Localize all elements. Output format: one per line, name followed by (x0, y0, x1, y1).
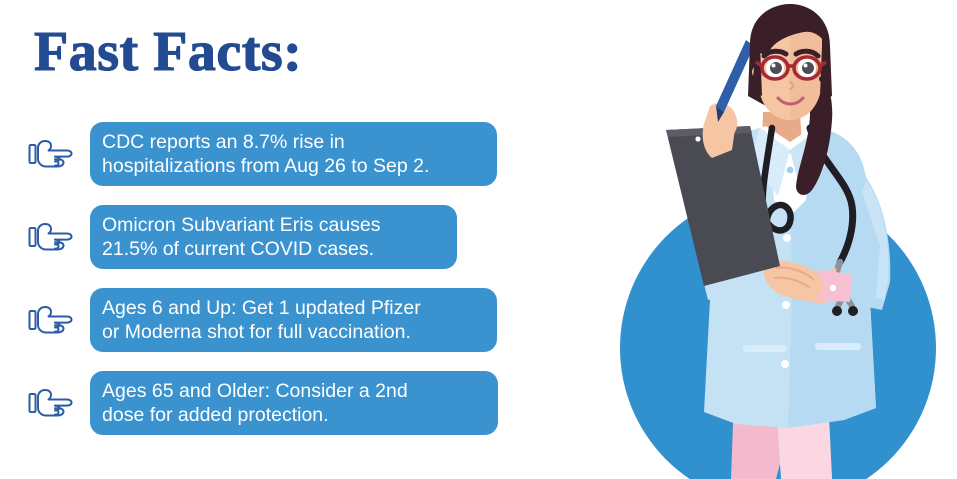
fact-text: CDC reports an 8.7% rise in hospitalizat… (102, 130, 429, 178)
pointing-hand-icon (28, 137, 74, 171)
coat-button-2 (782, 301, 790, 309)
coat-pocket-right (815, 343, 861, 350)
fact-row: CDC reports an 8.7% rise in hospitalizat… (0, 122, 560, 186)
pupil-right (802, 62, 814, 74)
fact-text: Ages 6 and Up: Get 1 updated Pfizer or M… (102, 296, 421, 344)
clipboard-clip-dot-left (695, 136, 700, 141)
eye-highlight-right (804, 64, 808, 68)
fast-facts-list: CDC reports an 8.7% rise in hospitalizat… (0, 122, 560, 454)
coat-button-3 (781, 360, 789, 368)
pointing-hand-icon (28, 220, 74, 254)
coat-pocket-left (743, 345, 787, 352)
eye-highlight-left (772, 64, 776, 68)
fact-text: Ages 65 and Older: Consider a 2nd dose f… (102, 379, 408, 427)
fact-bubble: Ages 65 and Older: Consider a 2nd dose f… (90, 371, 498, 435)
fact-bubble: CDC reports an 8.7% rise in hospitalizat… (90, 122, 497, 186)
fact-row: Ages 6 and Up: Get 1 updated Pfizer or M… (0, 288, 560, 352)
infographic-canvas: Fast Facts: CDC reports an 8.7% rise in … (0, 0, 957, 479)
stethoscope-earpiece-right (848, 306, 858, 316)
coat-button-1 (783, 234, 791, 242)
pointing-hand-icon (28, 303, 74, 337)
pointing-hand-icon (28, 386, 74, 420)
page-title: Fast Facts: (34, 22, 302, 82)
stethoscope-earpiece-left (832, 306, 842, 316)
doctor-illustration (600, 0, 957, 479)
fact-bubble: Ages 6 and Up: Get 1 updated Pfizer or M… (90, 288, 497, 352)
fact-row: Omicron Subvariant Eris causes 21.5% of … (0, 205, 560, 269)
pupil-left (770, 62, 782, 74)
fact-row: Ages 65 and Older: Consider a 2nd dose f… (0, 371, 560, 435)
fact-text: Omicron Subvariant Eris causes 21.5% of … (102, 213, 381, 261)
pen (716, 40, 754, 112)
cuff-button (830, 285, 836, 291)
shirt-button (787, 167, 794, 174)
fact-bubble: Omicron Subvariant Eris causes 21.5% of … (90, 205, 457, 269)
